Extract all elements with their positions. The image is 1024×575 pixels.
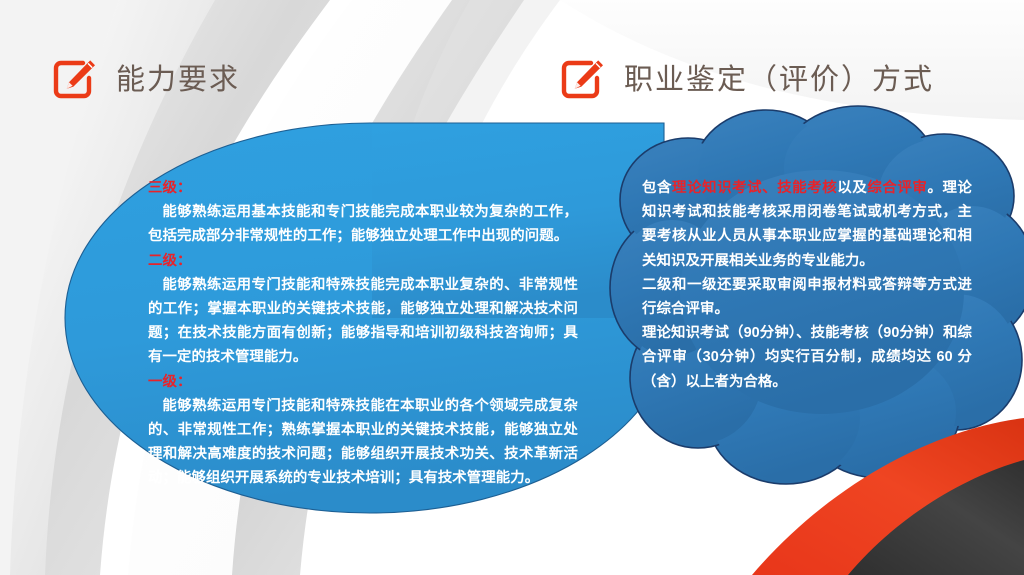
body-run: 理论知识考试（90分钟）、技能考核（90分钟）和综合评审（30分钟）均实行百分制… [642, 325, 972, 389]
level-body-1: 能够熟练运用专门技能和特殊技能在本职业的各个领域完成复杂的、非常规性工作；熟练掌… [148, 394, 578, 491]
highlighted-term: 综合评审 [867, 180, 927, 196]
level-label-1: 一级： [148, 370, 578, 394]
left-panel-text: 三级： 能够熟练运用基本技能和专门技能完成本职业较为复杂的工作，包括完成部分非常… [148, 176, 578, 491]
heading-right: 职业鉴定（评价）方式 [560, 58, 934, 102]
body-run: 以及 [837, 180, 867, 196]
slide-canvas: 能力要求 职业鉴定（评价）方式 三级： 能够熟练运用基本技能和专门技能完成本职业… [0, 0, 1024, 575]
edit-pencil-icon [560, 58, 606, 102]
level-body-3: 能够熟练运用基本技能和专门技能完成本职业较为复杂的工作，包括完成部分非常规性的工… [148, 200, 578, 248]
heading-left: 能力要求 [52, 58, 240, 102]
cloud-paragraph-1: 二级和一级还要采取审阅申报材料或答辩等方式进行综合评审。 [642, 273, 972, 321]
body-run: 包含 [642, 180, 672, 196]
cloud-text: 包含理论知识考试、技能考核以及综合评审。理论知识考试和技能考核采用闭卷笔试或机考… [642, 176, 972, 394]
cloud-paragraph-2: 理论知识考试（90分钟）、技能考核（90分钟）和综合评审（30分钟）均实行百分制… [642, 321, 972, 394]
heading-left-label: 能力要求 [116, 66, 240, 95]
level-label-2: 二级： [148, 249, 578, 273]
level-body-2: 能够熟练运用专门技能和特殊技能完成本职业复杂的、非常规性的工作；掌握本职业的关键… [148, 273, 578, 370]
level-label-3: 三级： [148, 176, 578, 200]
highlighted-term: 理论知识考试、技能考核 [672, 180, 837, 196]
cloud-paragraph-0: 包含理论知识考试、技能考核以及综合评审。理论知识考试和技能考核采用闭卷笔试或机考… [642, 176, 972, 273]
heading-right-label: 职业鉴定（评价）方式 [624, 66, 934, 95]
body-run: 二级和一级还要采取审阅申报材料或答辩等方式进行综合评审。 [642, 277, 972, 317]
edit-pencil-icon [52, 58, 98, 102]
